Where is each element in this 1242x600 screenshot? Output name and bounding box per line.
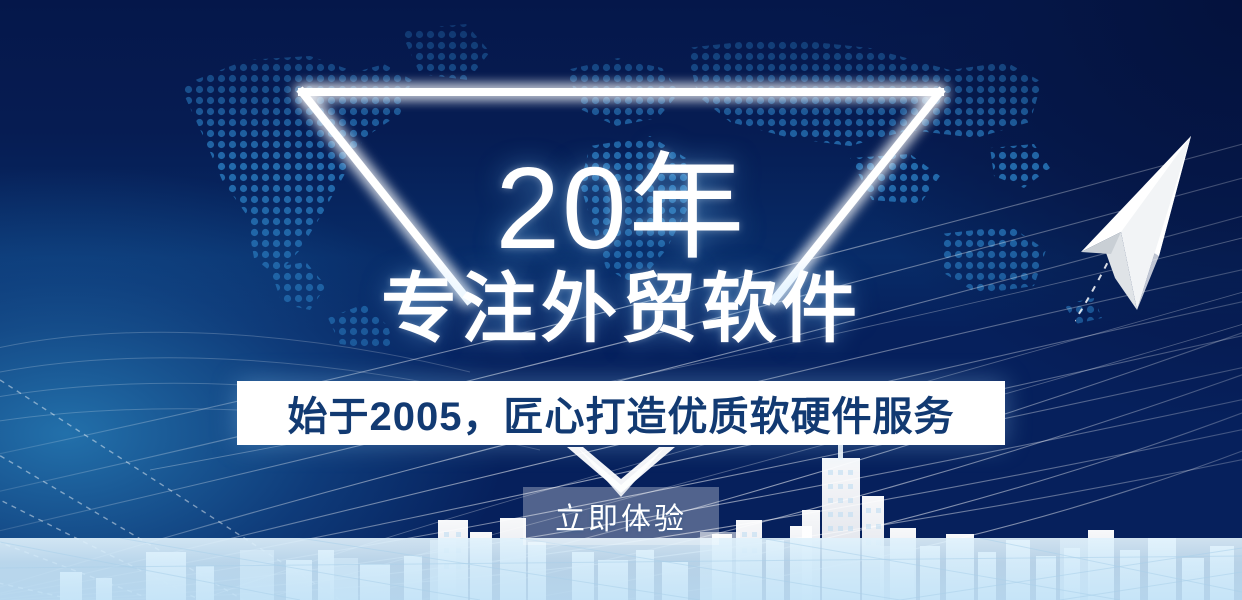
- cta-button-label: 立即体验: [555, 494, 687, 538]
- cta-button[interactable]: 立即体验: [523, 487, 719, 545]
- headline-year: 20年: [0, 150, 1242, 266]
- subtitle-text: 始于2005，匠心打造优质软硬件服务: [288, 384, 955, 442]
- promo-banner: 20年 专注外贸软件 始于2005，匠心打造优质软硬件服务 立即体验: [0, 0, 1242, 600]
- subtitle-banner: 始于2005，匠心打造优质软硬件服务: [237, 381, 1005, 445]
- headline-main: 专注外贸软件: [0, 272, 1242, 348]
- banner-content: 20年 专注外贸软件 始于2005，匠心打造优质软硬件服务 立即体验: [0, 0, 1242, 600]
